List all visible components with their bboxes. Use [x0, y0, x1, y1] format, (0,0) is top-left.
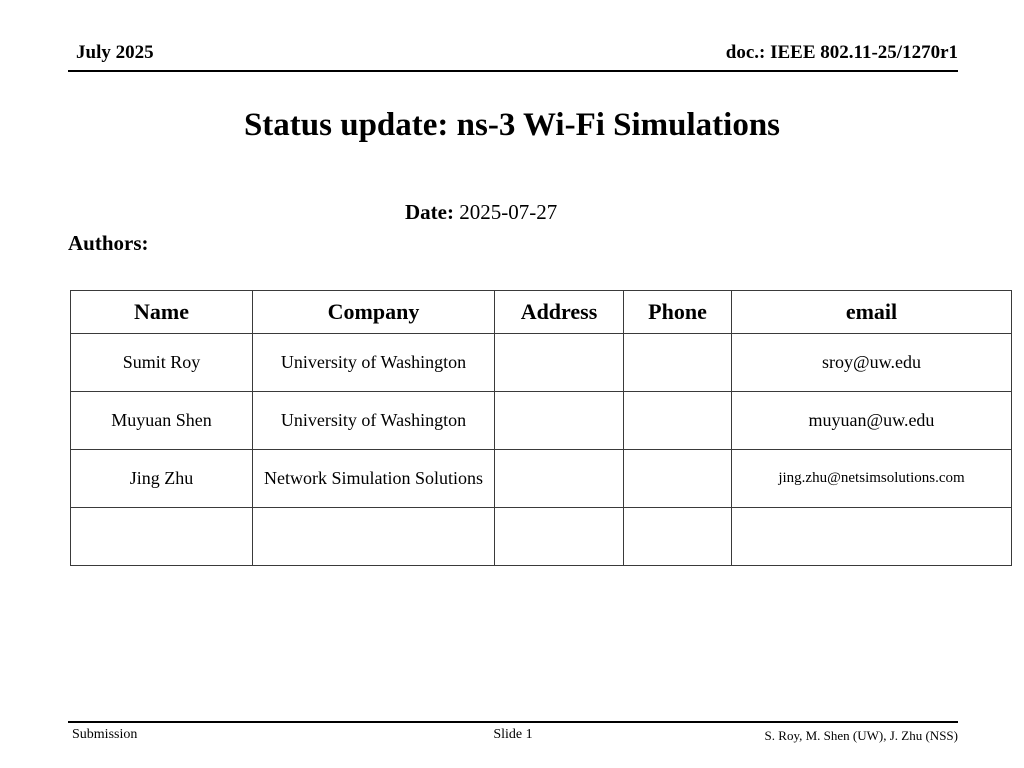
- cell-email: jing.zhu@netsimsolutions.com: [732, 450, 1012, 508]
- cell-phone: [624, 334, 732, 392]
- column-header-company: Company: [253, 291, 495, 334]
- cell-name: Sumit Roy: [71, 334, 253, 392]
- table-header-row: Name Company Address Phone email: [71, 291, 1012, 334]
- cell-company: University of Washington: [253, 392, 495, 450]
- cell-phone: [624, 450, 732, 508]
- slide-page: { "header": { "left": "July 2025", "righ…: [0, 0, 1024, 768]
- column-header-phone: Phone: [624, 291, 732, 334]
- slide-header: July 2025 doc.: IEEE 802.11-25/1270r1: [68, 42, 958, 72]
- cell-name: Muyuan Shen: [71, 392, 253, 450]
- date-label: Date:: [405, 200, 454, 224]
- cell-address: [495, 508, 624, 566]
- cell-name: [71, 508, 253, 566]
- header-date-text: July 2025: [76, 42, 154, 64]
- table-row: Jing Zhu Network Simulation Solutions ji…: [71, 450, 1012, 508]
- header-divider: [68, 70, 958, 72]
- cell-phone: [624, 508, 732, 566]
- column-header-name: Name: [71, 291, 253, 334]
- cell-email: muyuan@uw.edu: [732, 392, 1012, 450]
- slide-footer: Submission Slide 1 S. Roy, M. Shen (UW),…: [68, 727, 958, 749]
- cell-name: Jing Zhu: [71, 450, 253, 508]
- column-header-email: email: [732, 291, 1012, 334]
- cell-phone: [624, 392, 732, 450]
- table-header: Name Company Address Phone email: [71, 291, 1012, 334]
- authors-label: Authors:: [68, 231, 149, 256]
- footer-divider: [68, 721, 958, 723]
- cell-company: Network Simulation Solutions: [253, 450, 495, 508]
- authors-table-container: Name Company Address Phone email Sumit R…: [70, 290, 976, 566]
- table-row: [71, 508, 1012, 566]
- column-header-address: Address: [495, 291, 624, 334]
- table-row: Sumit Roy University of Washington sroy@…: [71, 334, 1012, 392]
- cell-email: sroy@uw.edu: [732, 334, 1012, 392]
- date-line: Date: 2025-07-27: [405, 200, 557, 225]
- footer-authors-text: S. Roy, M. Shen (UW), J. Zhu (NSS): [765, 728, 958, 744]
- cell-address: [495, 392, 624, 450]
- page-title: Status update: ns-3 Wi-Fi Simulations: [60, 107, 964, 144]
- table-body: Sumit Roy University of Washington sroy@…: [71, 334, 1012, 566]
- authors-table: Name Company Address Phone email Sumit R…: [70, 290, 1012, 566]
- date-value: 2025-07-27: [459, 200, 557, 224]
- table-row: Muyuan Shen University of Washington muy…: [71, 392, 1012, 450]
- cell-address: [495, 334, 624, 392]
- header-doc-number: doc.: IEEE 802.11-25/1270r1: [726, 42, 958, 64]
- cell-company: [253, 508, 495, 566]
- cell-address: [495, 450, 624, 508]
- cell-email: [732, 508, 1012, 566]
- cell-company: University of Washington: [253, 334, 495, 392]
